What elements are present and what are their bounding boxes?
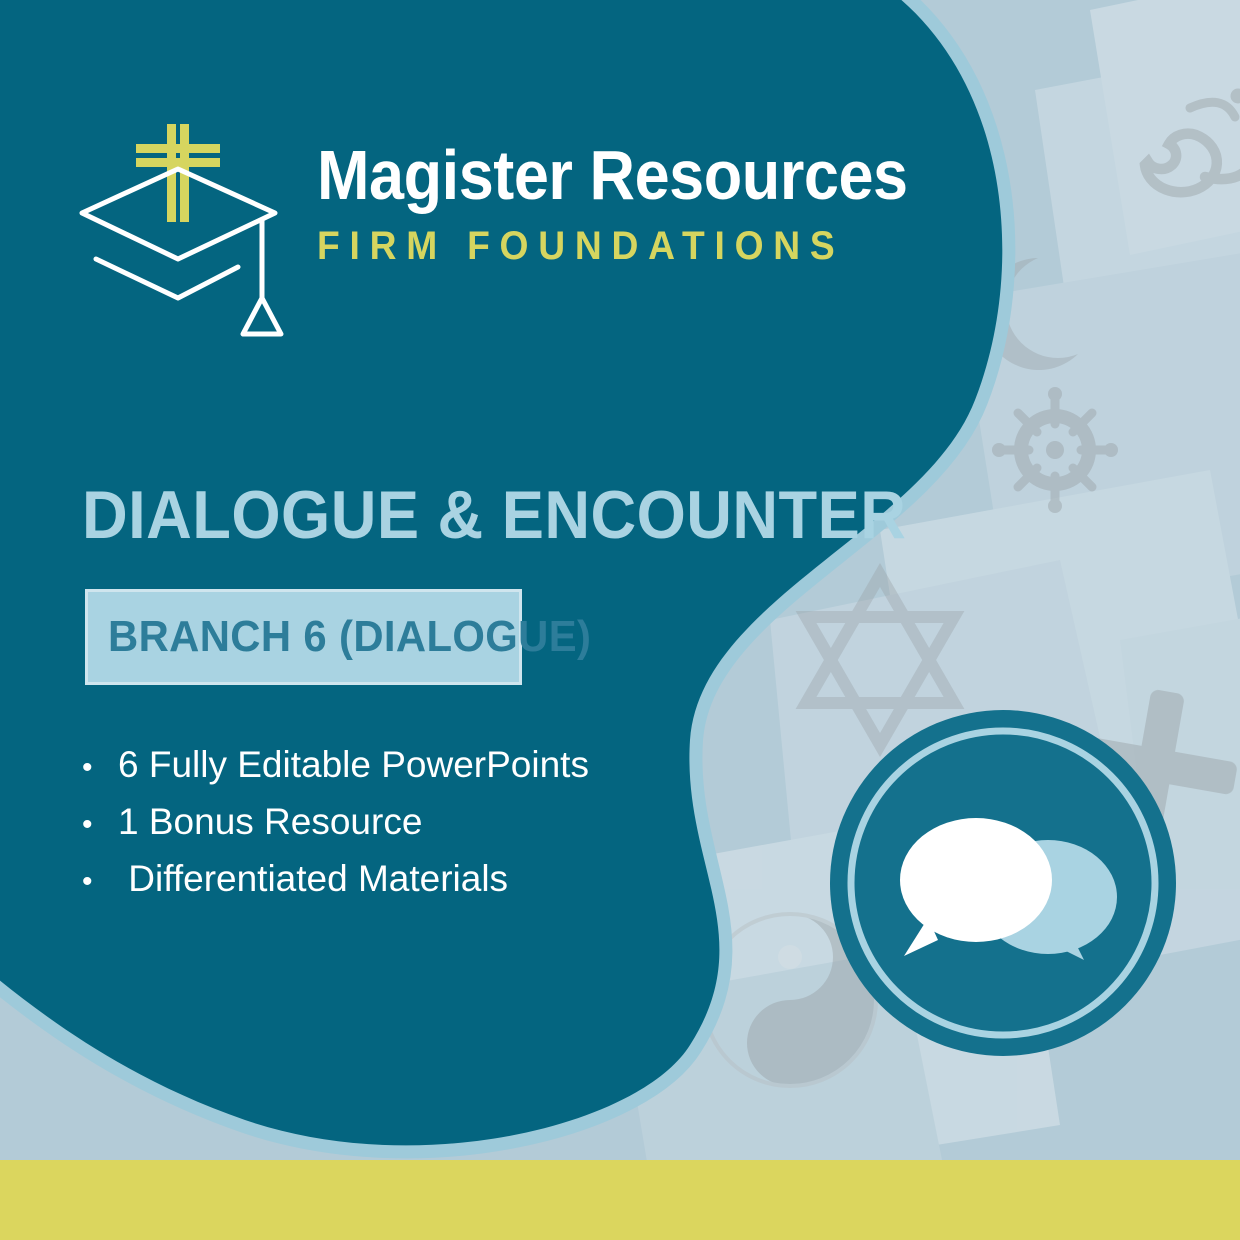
- bullet-icon: •: [82, 796, 118, 853]
- branch-badge: BRANCH 6 (DIALOGUE): [85, 589, 522, 685]
- list-item-label: Differentiated Materials: [118, 850, 508, 907]
- brand-wordmark: Magister Resources FIRM FOUNDATIONS: [317, 112, 973, 266]
- speech-bubbles-badge: [828, 708, 1178, 1058]
- brand-name: Magister Resources: [317, 140, 908, 210]
- bullet-icon: •: [82, 739, 118, 796]
- promo-graphic: Magister Resources FIRM FOUNDATIONS DIAL…: [0, 0, 1240, 1240]
- list-item: • 6 Fully Editable PowerPoints: [82, 736, 589, 793]
- cross-icon: [136, 124, 220, 222]
- bullet-icon: •: [82, 853, 118, 910]
- graduation-cap-cross-icon: [70, 112, 295, 337]
- list-item: • 1 Bonus Resource: [82, 793, 589, 850]
- branch-badge-label: BRANCH 6 (DIALOGUE): [108, 612, 591, 662]
- list-item-label: 1 Bonus Resource: [118, 793, 422, 850]
- brand-tagline: FIRM FOUNDATIONS: [317, 226, 927, 266]
- list-item-label: 6 Fully Editable PowerPoints: [118, 736, 589, 793]
- page-title: DIALOGUE & ENCOUNTER: [82, 481, 906, 549]
- feature-list: • 6 Fully Editable PowerPoints • 1 Bonus…: [82, 736, 589, 907]
- brand-logo-block: Magister Resources FIRM FOUNDATIONS: [70, 112, 973, 337]
- list-item: • Differentiated Materials: [82, 850, 589, 907]
- bottom-accent-bar: [0, 1160, 1240, 1240]
